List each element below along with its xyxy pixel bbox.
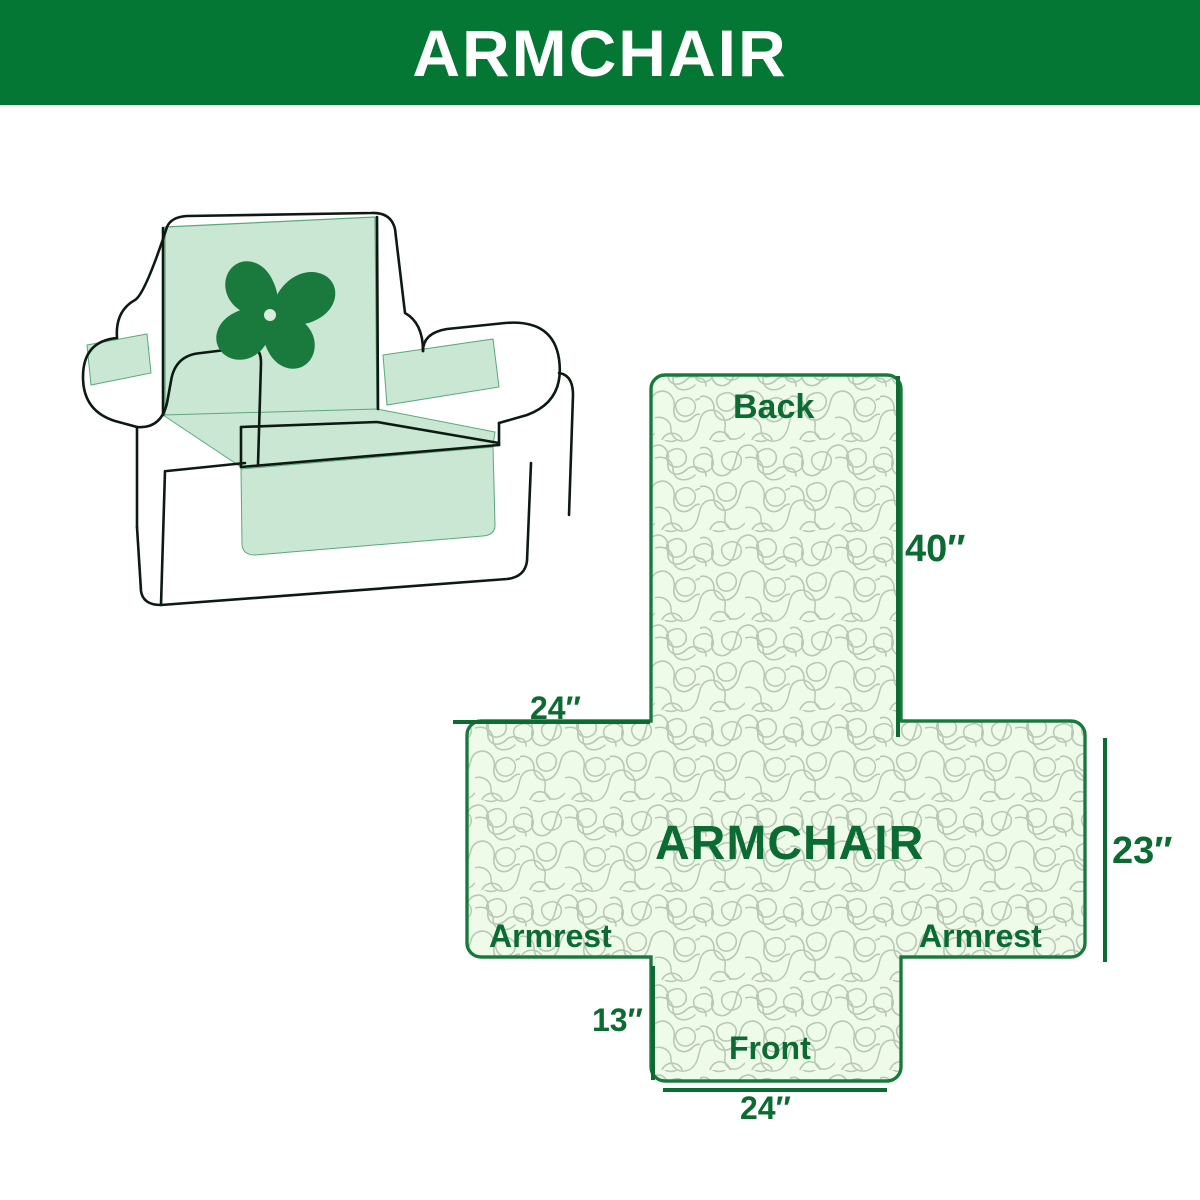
section-label-front: Front xyxy=(729,1032,811,1064)
section-label-armrest-right: Armrest xyxy=(919,920,1042,952)
chair-cover-left-arm xyxy=(87,334,151,385)
section-label-armrest-left: Armrest xyxy=(489,920,612,952)
diagram-center-label: ARMCHAIR xyxy=(655,820,924,868)
dimension-label-back-height: 40″ xyxy=(905,530,965,568)
header-banner: ARMCHAIR xyxy=(0,0,1200,105)
page-title: ARMCHAIR xyxy=(412,20,787,86)
dimension-label-front-width: 24″ xyxy=(740,1092,791,1124)
dimension-label-back-width: 24″ xyxy=(530,692,581,724)
dimension-label-front-depth: 13″ xyxy=(592,1004,643,1036)
dimension-label-armrest-depth: 23″ xyxy=(1112,832,1172,870)
product-dimension-diagram-page: ARMCHAIR xyxy=(0,0,1200,1200)
section-label-back: Back xyxy=(733,390,814,424)
